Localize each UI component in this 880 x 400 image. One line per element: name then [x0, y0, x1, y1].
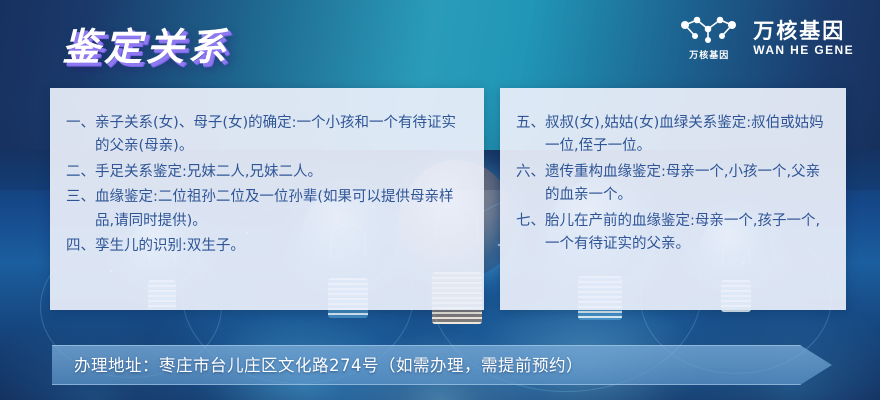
brand-logo[interactable]: 万核基因 万核基因 WAN HE GENE [679, 16, 854, 61]
list-item-number: 一、 [66, 112, 95, 135]
list-item: 五、 叔叔(女),姑姑(女)血绿关系鉴定:叔伯或姑妈一位,侄子一位。 [516, 112, 830, 159]
banner-header: 鉴定关系 [0, 0, 880, 88]
service-list-right: 五、 叔叔(女),姑姑(女)血绿关系鉴定:叔伯或姑妈一位,侄子一位。 六、 遗传… [500, 88, 846, 310]
list-item-text: 手足关系鉴定:兄妹二人,兄妹二人。 [95, 161, 468, 184]
gene-network-icon: 万核基因 [679, 16, 739, 61]
list-item-number: 六、 [516, 161, 545, 184]
list-item-text: 胎儿在产前的血缘鉴定:母亲一个,孩子一个,一个有待证实的父亲。 [545, 210, 830, 257]
service-list-left: 一、 亲子关系(女)、母子(女)的确定:一个小孩和一个有待证实的父亲(母亲)。 … [50, 88, 484, 310]
list-item-text: 遗传重构血缘鉴定:母亲一个,小孩一个,父亲的血亲一个。 [545, 161, 830, 208]
address-text: 办理地址：枣庄市台儿庄区文化路274号（如需办理，需提前预约） [74, 345, 583, 383]
list-item-number: 五、 [516, 112, 545, 135]
service-list-panels: 一、 亲子关系(女)、母子(女)的确定:一个小孩和一个有待证实的父亲(母亲)。 … [50, 88, 846, 310]
brand-wordmark: 万核基因 WAN HE GENE [753, 20, 854, 57]
page-title: 鉴定关系 [62, 16, 230, 71]
promo-banner: 鉴定关系 [0, 0, 880, 400]
panel-divider [484, 88, 500, 310]
list-item: 二、 手足关系鉴定:兄妹二人,兄妹二人。 [66, 161, 468, 184]
list-item: 一、 亲子关系(女)、母子(女)的确定:一个小孩和一个有待证实的父亲(母亲)。 [66, 112, 468, 159]
list-item: 七、 胎儿在产前的血缘鉴定:母亲一个,孩子一个,一个有待证实的父亲。 [516, 210, 830, 257]
list-item-number: 四、 [66, 235, 95, 258]
brand-name-cn: 万核基因 [753, 20, 845, 42]
list-item-number: 二、 [66, 161, 95, 184]
list-item: 六、 遗传重构血缘鉴定:母亲一个,小孩一个,父亲的血亲一个。 [516, 161, 830, 208]
list-item-number: 七、 [516, 210, 545, 233]
list-item-text: 叔叔(女),姑姑(女)血绿关系鉴定:叔伯或姑妈一位,侄子一位。 [545, 112, 830, 159]
logo-mark-caption: 万核基因 [689, 48, 729, 61]
list-item: 四、 孪生儿的识别:双生子。 [66, 235, 468, 258]
list-item: 三、 血缘鉴定:二位祖孙二位及一位孙辈(如果可以提供母亲样品,请同时提供)。 [66, 186, 468, 233]
list-item-number: 三、 [66, 186, 95, 209]
list-item-text: 孪生儿的识别:双生子。 [95, 235, 468, 258]
address-banner: 办理地址：枣庄市台儿庄区文化路274号（如需办理，需提前预约） [52, 345, 832, 383]
brand-name-en: WAN HE GENE [753, 43, 854, 57]
list-item-text: 亲子关系(女)、母子(女)的确定:一个小孩和一个有待证实的父亲(母亲)。 [95, 112, 468, 159]
list-item-text: 血缘鉴定:二位祖孙二位及一位孙辈(如果可以提供母亲样品,请同时提供)。 [95, 186, 468, 233]
